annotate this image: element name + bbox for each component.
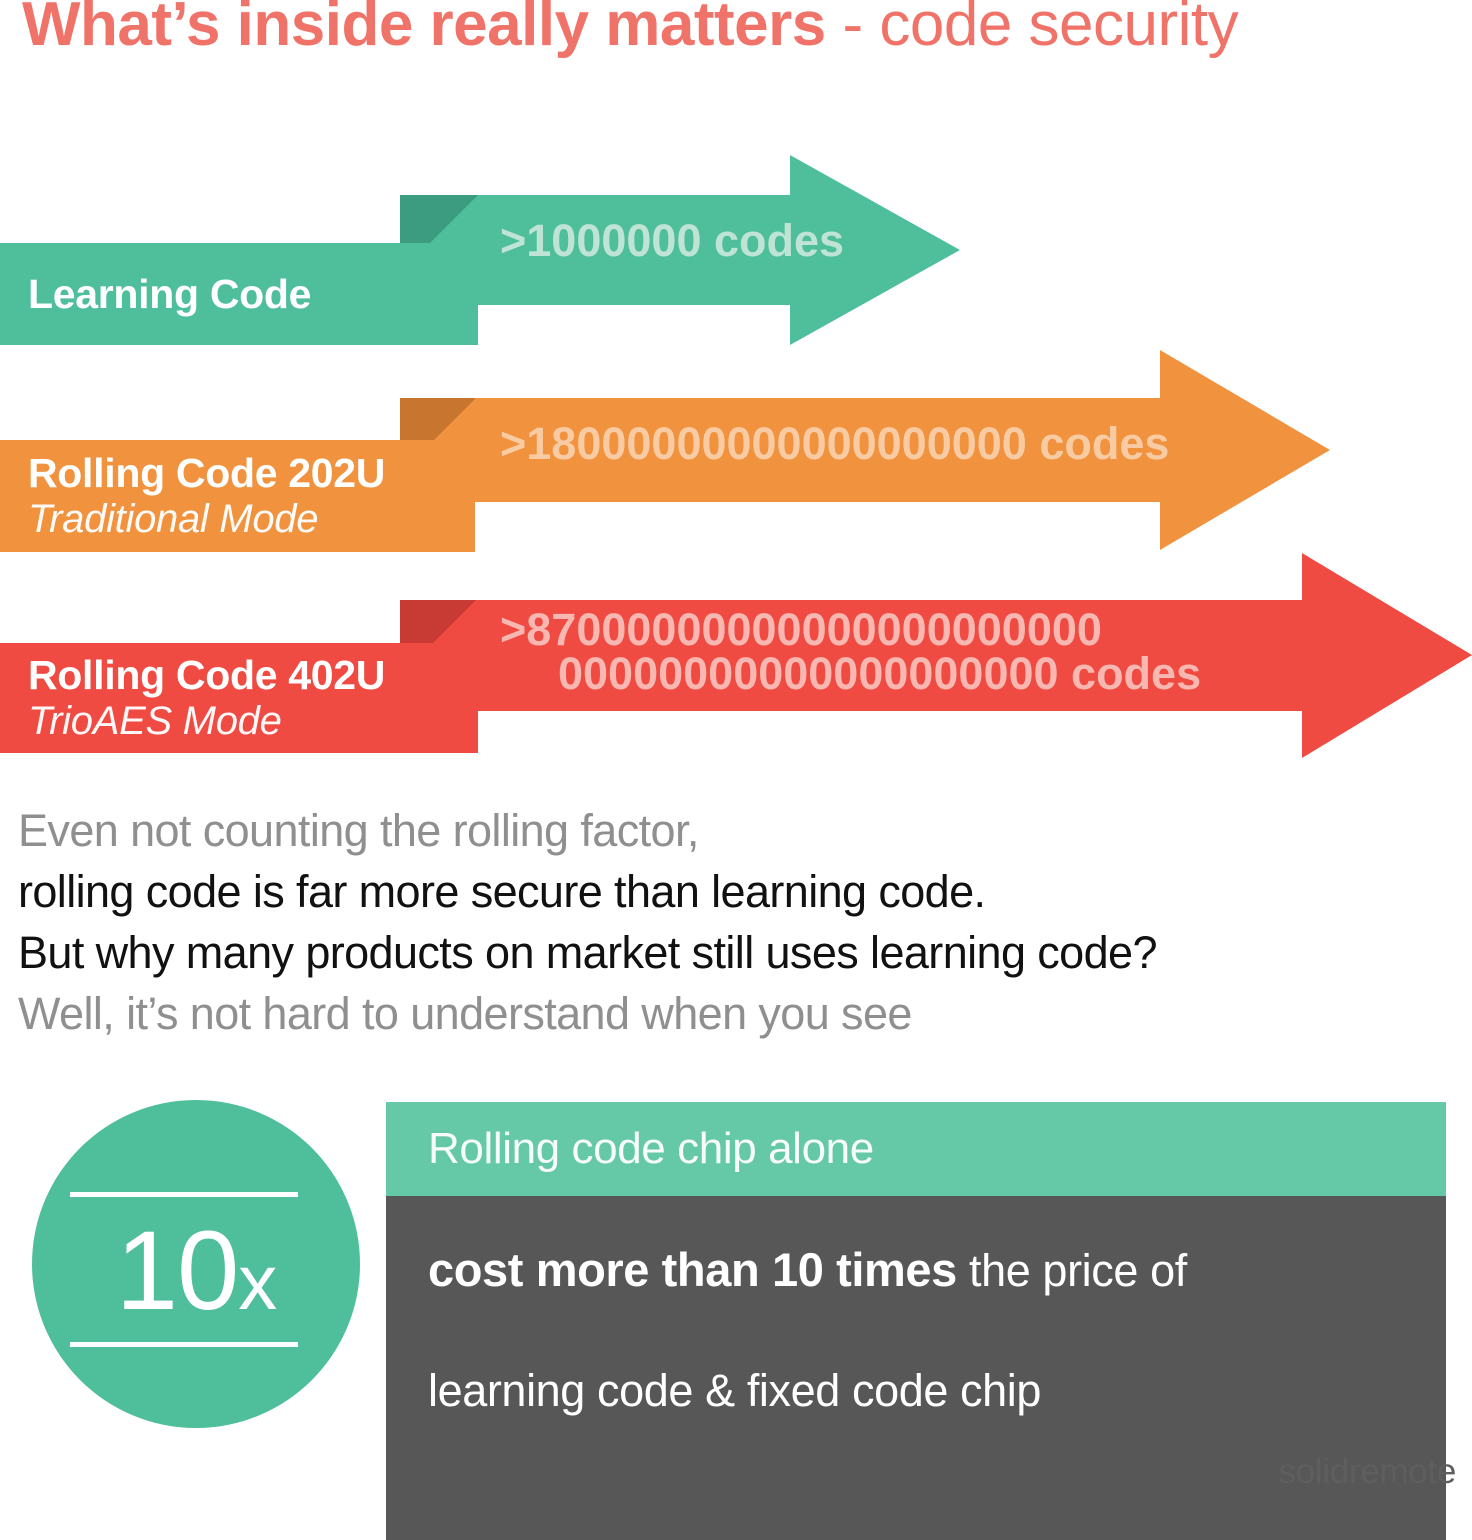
arrow-codes-rolling-402u-line2: 00000000000000000000 codes <box>558 649 1201 699</box>
paragraph-line-3: But why many products on market still us… <box>18 922 1418 983</box>
arrow-row-rolling-202u: Rolling Code 202U Traditional Mode >1800… <box>0 350 1472 550</box>
page-title: What’s inside really matters - code secu… <box>22 0 1472 68</box>
arrow-sublabel-rolling-402u: TrioAES Mode <box>28 698 478 744</box>
page-title-light: - code security <box>826 0 1238 59</box>
arrow-row-learning-code: Learning Code >1000000 codes <box>0 155 1472 345</box>
badge-rule-bottom <box>70 1342 298 1347</box>
badge-number: 10 <box>116 1208 239 1333</box>
paragraph-line-1: Even not counting the rolling factor, <box>18 800 1418 861</box>
paragraph-line-2: rolling code is far more secure than lea… <box>18 861 1418 922</box>
cost-panel-line-2: learning code & fixed code chip <box>428 1365 1446 1417</box>
multiplier-badge: 10x <box>32 1100 360 1428</box>
page-title-strong: What’s inside really matters <box>22 0 826 59</box>
brand-wordmark: solidremote <box>1278 1452 1456 1492</box>
cost-panel-header-text: Rolling code chip alone <box>428 1124 1446 1174</box>
badge-value: 10x <box>32 1212 360 1341</box>
paragraph-line-4: Well, it’s not hard to understand when y… <box>18 983 1418 1044</box>
arrow-label-learning-code: Learning Code <box>28 271 478 317</box>
cost-panel-line-1-bold: cost more than 10 times <box>428 1243 957 1296</box>
arrow-codes-learning-code: >1000000 codes <box>500 215 844 267</box>
badge-rule-top <box>70 1192 298 1197</box>
cost-panel-line-1: cost more than 10 times the price of <box>428 1244 1446 1297</box>
arrow-sublabel-rolling-202u: Traditional Mode <box>28 496 475 542</box>
arrow-banner-rolling-202u: Rolling Code 202U Traditional Mode <box>0 440 475 552</box>
explainer-paragraph: Even not counting the rolling factor, ro… <box>18 800 1418 1044</box>
arrow-label-rolling-402u: Rolling Code 402U <box>28 652 478 698</box>
arrow-banner-rolling-402u: Rolling Code 402U TrioAES Mode <box>0 643 478 753</box>
badge-suffix: x <box>238 1238 276 1326</box>
cost-panel-line-1-rest: the price of <box>957 1245 1187 1296</box>
cost-panel-header: Rolling code chip alone <box>386 1102 1446 1196</box>
arrow-codes-rolling-202u: >18000000000000000000 codes <box>500 418 1169 470</box>
arrow-row-rolling-402u: Rolling Code 402U TrioAES Mode >87000000… <box>0 553 1472 758</box>
arrow-banner-learning-code: Learning Code <box>0 243 478 345</box>
arrow-label-rolling-202u: Rolling Code 202U <box>28 450 475 496</box>
